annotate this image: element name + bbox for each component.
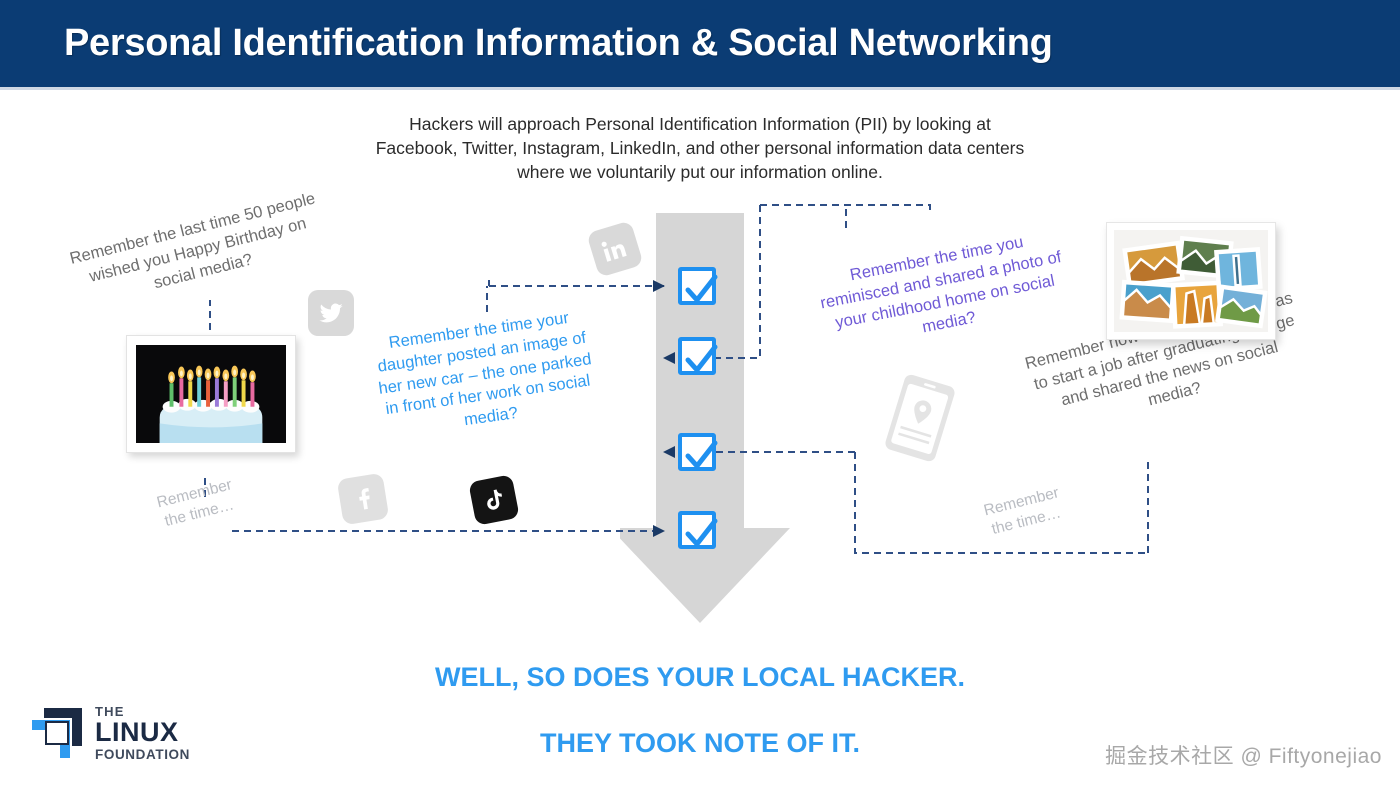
- tagline: WELL, SO DOES YOUR LOCAL HACKER. THEY TO…: [300, 628, 1100, 788]
- slide-canvas: Personal Identification Information & So…: [0, 0, 1400, 788]
- cake-image: [136, 345, 286, 443]
- logo-linux: LINUX: [95, 719, 190, 746]
- checkbox-checked-3[interactable]: [678, 433, 716, 471]
- travel-photo-collage: [1106, 222, 1276, 340]
- linux-foundation-mark-icon: [30, 706, 84, 760]
- tiktok-icon[interactable]: [468, 474, 520, 526]
- tagline-line-2: THEY TOOK NOTE OF IT.: [300, 727, 1100, 760]
- faint-label-left: Remember the time…: [135, 470, 259, 538]
- tagline-line-1: WELL, SO DOES YOUR LOCAL HACKER.: [300, 661, 1100, 694]
- intro-paragraph: Hackers will approach Personal Identific…: [375, 112, 1025, 184]
- collage-image: [1114, 230, 1268, 332]
- facebook-icon[interactable]: [337, 473, 390, 526]
- linux-foundation-wordmark: THE LINUX FOUNDATION: [95, 705, 190, 762]
- checkbox-checked-2[interactable]: [678, 337, 716, 375]
- slide-header: Personal Identification Information & So…: [0, 0, 1400, 87]
- callout-birthday: Remember the last time 50 people wished …: [64, 188, 332, 314]
- checkbox-checked-1[interactable]: [678, 267, 716, 305]
- checkbox-checked-4[interactable]: [678, 511, 716, 549]
- logo-the: THE: [95, 705, 190, 718]
- twitter-icon[interactable]: [308, 290, 354, 336]
- faint-label-right: Remember the time…: [962, 478, 1086, 546]
- logo-foundation: FOUNDATION: [95, 748, 190, 762]
- callout-car: Remember the time your daughter posted a…: [366, 305, 605, 444]
- page-title: Personal Identification Information & So…: [64, 22, 1053, 65]
- header-divider: [0, 87, 1400, 90]
- linux-foundation-logo: THE LINUX FOUNDATION: [30, 702, 220, 764]
- mobile-location-icon[interactable]: [879, 369, 961, 467]
- callout-childhood-home: Remember the time you reminisced and sha…: [812, 225, 1074, 358]
- birthday-cake-photo: [126, 335, 296, 453]
- watermark: 掘金技术社区 @ Fiftyonejiao: [1105, 740, 1382, 770]
